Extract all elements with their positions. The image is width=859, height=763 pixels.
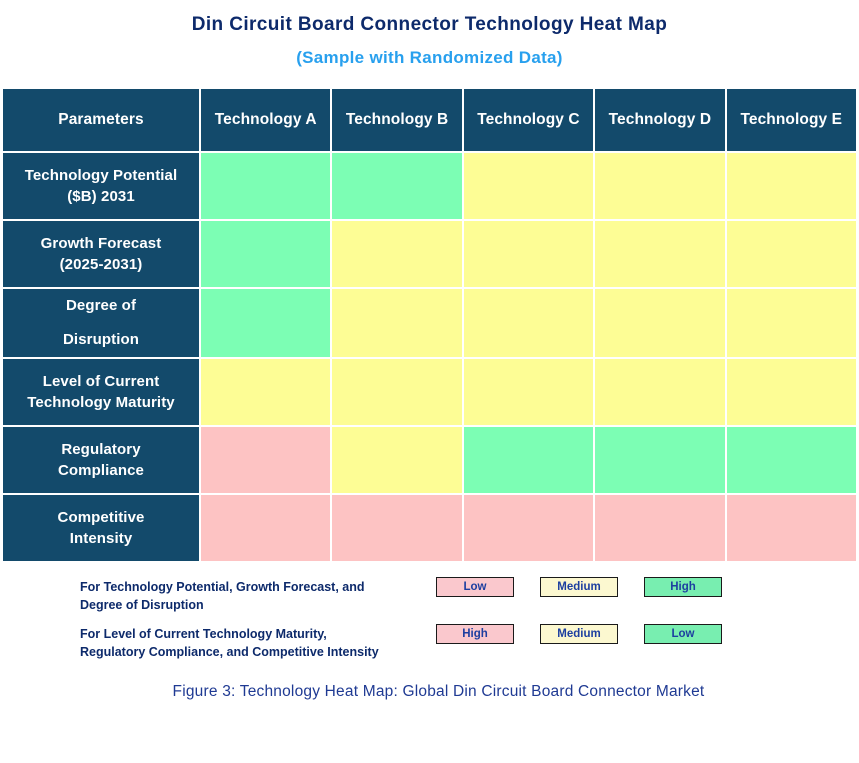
heatmap-cell (332, 221, 461, 287)
row-header-line: Level of Current (3, 371, 199, 392)
row-header-line: Compliance (3, 460, 199, 481)
heatmap-cell (332, 359, 461, 425)
legend: For Technology Potential, Growth Forecas… (0, 577, 859, 661)
heatmap-cell (595, 221, 724, 287)
row-header-line: Disruption (3, 323, 199, 357)
row-header-line: Intensity (3, 528, 199, 549)
legend-swatch-high: High (644, 577, 722, 597)
legend-description: For Technology Potential, Growth Forecas… (80, 577, 436, 614)
row-header-5: RegulatoryCompliance (3, 427, 199, 493)
row-header-line: Regulatory (3, 439, 199, 460)
row-header-2: Growth Forecast(2025-2031) (3, 221, 199, 287)
legend-swatch-high: High (436, 624, 514, 644)
row-header-3: Degree ofDisruption (3, 289, 199, 357)
legend-row: For Technology Potential, Growth Forecas… (80, 577, 859, 614)
heatmap-cell (332, 153, 461, 219)
heatmap-cell (595, 359, 724, 425)
row-header-line: Technology Potential (3, 165, 199, 186)
heatmap-cell (332, 495, 461, 561)
heatmap-cell (201, 153, 330, 219)
heatmap-cell (595, 495, 724, 561)
heatmap-cell (727, 153, 856, 219)
legend-description: For Level of Current Technology Maturity… (80, 624, 436, 661)
column-header-technology-e: Technology E (727, 89, 856, 151)
legend-description-line: Degree of Disruption (80, 596, 436, 614)
table-row: Growth Forecast(2025-2031) (3, 221, 856, 287)
heatmap-cell (464, 221, 593, 287)
row-header-line: Technology Maturity (3, 392, 199, 413)
technology-heatmap-table: Parameters Technology A Technology B Tec… (1, 87, 858, 563)
heatmap-cell (727, 289, 856, 357)
heatmap-cell (464, 289, 593, 357)
table-header-row: Parameters Technology A Technology B Tec… (3, 89, 856, 151)
column-header-technology-a: Technology A (201, 89, 330, 151)
table-row: Level of CurrentTechnology Maturity (3, 359, 856, 425)
heatmap-cell (201, 289, 330, 357)
column-header-technology-b: Technology B (332, 89, 461, 151)
heatmap-body: Technology Potential($B) 2031Growth Fore… (3, 153, 856, 561)
column-header-parameters: Parameters (3, 89, 199, 151)
legend-swatch-low: Low (644, 624, 722, 644)
heatmap-cell (201, 427, 330, 493)
legend-swatch-group: LowMediumHigh (436, 577, 722, 597)
table-row: Degree ofDisruption (3, 289, 856, 357)
heatmap-cell (464, 495, 593, 561)
heatmap-cell (727, 359, 856, 425)
heatmap-cell (201, 221, 330, 287)
figure-caption: Figure 3: Technology Heat Map: Global Di… (0, 683, 859, 701)
row-header-line: Degree of (3, 289, 199, 323)
legend-swatch-group: HighMediumLow (436, 624, 722, 644)
table-row: Technology Potential($B) 2031 (3, 153, 856, 219)
heatmap-cell (595, 289, 724, 357)
row-header-1: Technology Potential($B) 2031 (3, 153, 199, 219)
heatmap-cell (464, 153, 593, 219)
row-header-line: Growth Forecast (3, 233, 199, 254)
heatmap-cell (727, 495, 856, 561)
legend-swatch-low: Low (436, 577, 514, 597)
table-row: CompetitiveIntensity (3, 495, 856, 561)
page-subtitle: (Sample with Randomized Data) (0, 45, 859, 71)
heatmap-cell (464, 427, 593, 493)
row-header-line: Competitive (3, 507, 199, 528)
heatmap-cell (727, 221, 856, 287)
heatmap-cell (727, 427, 856, 493)
heatmap-cell (595, 153, 724, 219)
heatmap-cell (464, 359, 593, 425)
page-title: Din Circuit Board Connector Technology H… (0, 12, 859, 38)
row-header-line: (2025-2031) (3, 254, 199, 275)
column-header-technology-d: Technology D (595, 89, 724, 151)
row-header-6: CompetitiveIntensity (3, 495, 199, 561)
column-header-technology-c: Technology C (464, 89, 593, 151)
legend-row: For Level of Current Technology Maturity… (80, 624, 859, 661)
title-block: Din Circuit Board Connector Technology H… (0, 0, 859, 71)
heatmap-cell (332, 427, 461, 493)
legend-swatch-medium: Medium (540, 577, 618, 597)
row-header-line: ($B) 2031 (3, 186, 199, 207)
row-header-4: Level of CurrentTechnology Maturity (3, 359, 199, 425)
heatmap-cell (201, 359, 330, 425)
heatmap-cell (332, 289, 461, 357)
heatmap-cell (201, 495, 330, 561)
legend-description-line: For Level of Current Technology Maturity… (80, 625, 436, 643)
heatmap-container: Parameters Technology A Technology B Tec… (0, 87, 859, 563)
legend-swatch-medium: Medium (540, 624, 618, 644)
legend-description-line: Regulatory Compliance, and Competitive I… (80, 643, 436, 661)
legend-description-line: For Technology Potential, Growth Forecas… (80, 578, 436, 596)
table-row: RegulatoryCompliance (3, 427, 856, 493)
heatmap-cell (595, 427, 724, 493)
